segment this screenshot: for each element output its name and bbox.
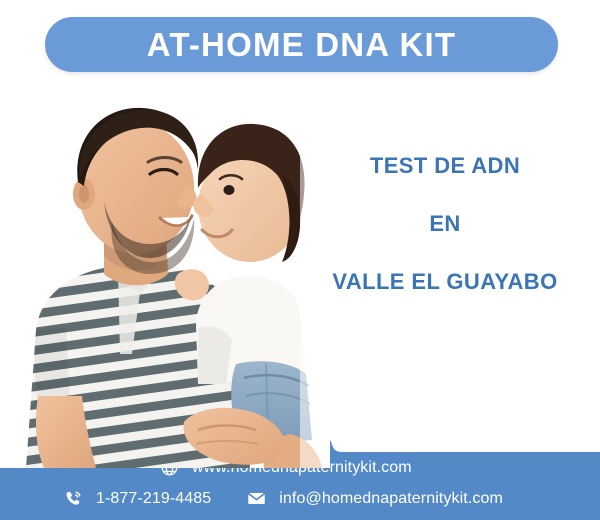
photo-illustration bbox=[0, 78, 330, 468]
poster-canvas: AT-HOME DNA KIT TEST DE ADN EN VALLE EL … bbox=[0, 0, 600, 520]
footer-email-group[interactable]: info@homednapaternitykit.com bbox=[247, 489, 503, 508]
page-title: AT-HOME DNA KIT bbox=[147, 28, 456, 61]
headline-line-en: EN bbox=[300, 213, 590, 235]
email-label: info@homednapaternitykit.com bbox=[279, 491, 503, 507]
footer-contact-row: 1-877-219-4485 info@homednapaternitykit.… bbox=[64, 489, 503, 508]
footer-phone-group[interactable]: 1-877-219-4485 bbox=[64, 489, 211, 508]
headline-line-location: VALLE EL GUAYABO bbox=[300, 271, 590, 293]
family-photo bbox=[0, 78, 330, 468]
headline-block: TEST DE ADN EN VALLE EL GUAYABO bbox=[300, 155, 590, 293]
phone-label: 1-877-219-4485 bbox=[96, 491, 211, 507]
envelope-icon bbox=[247, 489, 266, 508]
phone-icon bbox=[64, 489, 83, 508]
headline-line-test-de-adn: TEST DE ADN bbox=[300, 155, 590, 177]
header-banner: AT-HOME DNA KIT bbox=[45, 17, 558, 72]
